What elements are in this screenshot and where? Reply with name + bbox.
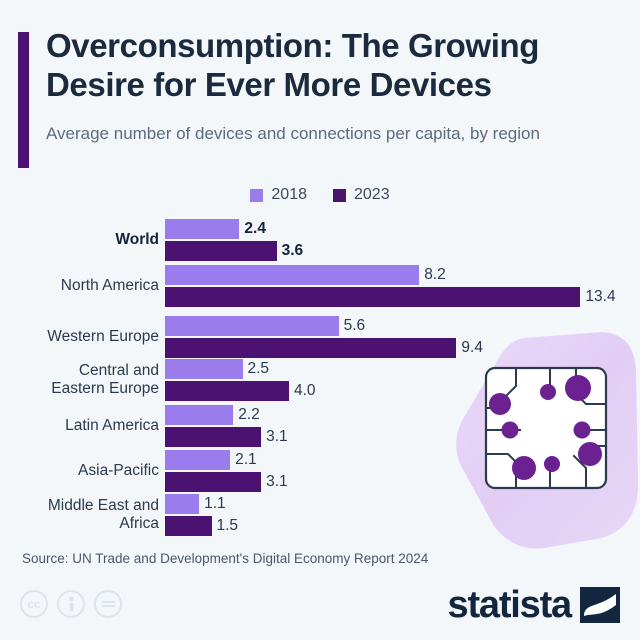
bar-2018: [165, 265, 419, 285]
infographic-canvas: Overconsumption: The Growing Desire for …: [0, 0, 640, 640]
row-bars: 1.11.5: [165, 493, 640, 537]
row-bars: 5.69.4: [165, 315, 640, 359]
row-bars: 2.13.1: [165, 449, 640, 493]
attribution-icon: [57, 590, 85, 618]
bar-value-2018: 2.1: [235, 451, 257, 469]
no-derivatives-icon: [94, 590, 122, 618]
bar-track-2023: 3.1: [165, 472, 288, 492]
page-subtitle: Average number of devices and connection…: [46, 122, 606, 145]
bar-2018: [165, 359, 243, 379]
bar-track-2018: 5.6: [165, 316, 365, 336]
bar-value-2018: 2.5: [248, 360, 270, 378]
statista-logo: statista: [448, 586, 620, 624]
row-label: Asia-Pacific: [0, 462, 165, 480]
creative-commons-badges: cc: [20, 590, 122, 618]
legend-item-2023: 2023: [333, 186, 390, 204]
bar-track-2023: 9.4: [165, 338, 483, 358]
bar-2023: [165, 241, 277, 261]
bar-value-2023: 4.0: [294, 382, 316, 400]
bar-2018: [165, 494, 199, 514]
header: Overconsumption: The Growing Desire for …: [0, 0, 640, 180]
statista-wordmark: statista: [448, 586, 571, 624]
bar-value-2023: 1.5: [217, 517, 239, 535]
chart-row: World2.43.6: [0, 218, 640, 262]
bar-2023: [165, 381, 289, 401]
bar-track-2018: 1.1: [165, 494, 226, 514]
bar-track-2018: 2.2: [165, 405, 260, 425]
chart-row: Middle East and Africa1.11.5: [0, 493, 640, 537]
bar-value-2023: 13.4: [585, 288, 615, 306]
legend-swatch-2018: [250, 189, 263, 202]
title-accent-bar: [18, 32, 29, 168]
row-bars: 2.23.1: [165, 404, 640, 448]
bar-value-2018: 8.2: [424, 266, 446, 284]
legend-label-2023: 2023: [354, 186, 390, 204]
bar-track-2023: 1.5: [165, 516, 238, 536]
row-label: Middle East and Africa: [0, 497, 165, 533]
legend-swatch-2023: [333, 189, 346, 202]
creative-commons-icon: cc: [20, 590, 48, 618]
bar-track-2018: 2.1: [165, 450, 257, 470]
row-label: Latin America: [0, 417, 165, 435]
chart-row: Asia-Pacific2.13.1: [0, 449, 640, 493]
statista-mark: [580, 587, 620, 623]
bar-value-2018: 2.4: [244, 220, 266, 238]
row-label: Western Europe: [0, 328, 165, 346]
chart-row: Central and Eastern Europe2.54.0: [0, 358, 640, 402]
bar-track-2023: 13.4: [165, 287, 616, 307]
row-bars: 2.43.6: [165, 218, 640, 262]
row-bars: 2.54.0: [165, 358, 640, 402]
chart-legend: 2018 2023: [0, 186, 640, 204]
bar-value-2018: 2.2: [238, 406, 260, 424]
bar-track-2023: 3.6: [165, 241, 303, 261]
row-bars: 8.213.4: [165, 264, 640, 308]
bar-2023: [165, 287, 580, 307]
row-label: North America: [0, 277, 165, 295]
legend-item-2018: 2018: [250, 186, 307, 204]
bar-track-2023: 3.1: [165, 427, 288, 447]
bar-track-2018: 2.5: [165, 359, 269, 379]
chart-row: Latin America2.23.1: [0, 404, 640, 448]
row-label: World: [0, 231, 165, 249]
bar-2023: [165, 338, 456, 358]
bar-value-2018: 5.6: [344, 317, 366, 335]
bar-value-2023: 3.1: [266, 473, 288, 491]
bar-value-2023: 3.1: [266, 428, 288, 446]
bar-2023: [165, 472, 261, 492]
bar-track-2023: 4.0: [165, 381, 316, 401]
bar-2023: [165, 427, 261, 447]
source-note: Source: UN Trade and Development's Digit…: [22, 551, 428, 566]
page-title: Overconsumption: The Growing Desire for …: [46, 27, 626, 105]
bar-value-2018: 1.1: [204, 495, 226, 513]
bar-chart: World2.43.6North America8.213.4Western E…: [0, 218, 640, 536]
chart-row: Western Europe5.69.4: [0, 315, 640, 359]
bar-2023: [165, 516, 212, 536]
row-label: Central and Eastern Europe: [0, 362, 165, 398]
bar-2018: [165, 405, 233, 425]
bar-2018: [165, 450, 230, 470]
legend-label-2018: 2018: [271, 186, 307, 204]
bar-value-2023: 3.6: [282, 242, 304, 260]
chart-row: North America8.213.4: [0, 264, 640, 308]
bar-track-2018: 2.4: [165, 219, 266, 239]
bar-2018: [165, 316, 339, 336]
bar-track-2018: 8.2: [165, 265, 446, 285]
bar-value-2023: 9.4: [461, 339, 483, 357]
bar-2018: [165, 219, 239, 239]
